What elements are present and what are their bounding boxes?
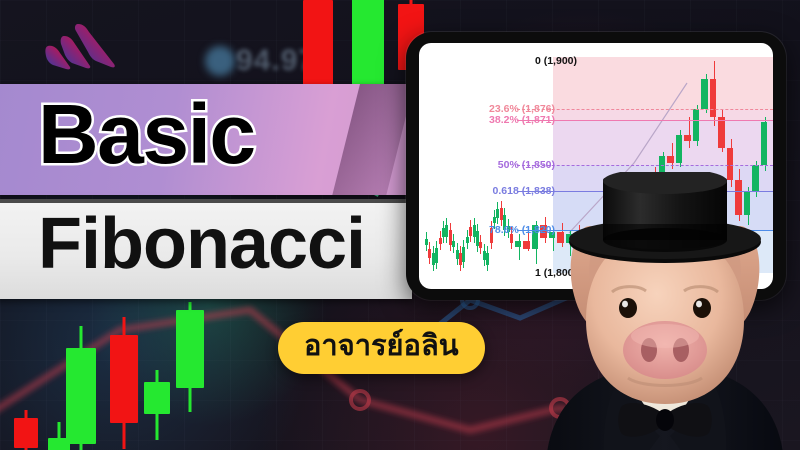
fibonacci-level-line bbox=[517, 109, 773, 110]
candle-body bbox=[452, 241, 455, 247]
instructor-badge-label: อาจารย์อลิน bbox=[304, 330, 459, 362]
candle-body bbox=[486, 253, 489, 265]
fibonacci-level-line bbox=[517, 120, 773, 121]
thumbnail-canvas: 94.97 bbox=[0, 0, 800, 450]
candle-body bbox=[479, 242, 482, 248]
candle-body bbox=[718, 117, 724, 147]
fibonacci-label: 0 (1,900) bbox=[535, 55, 577, 67]
fibonacci-label: 38.2% (1,871) bbox=[489, 114, 555, 126]
page-title-line2: Fibonacci bbox=[38, 208, 365, 280]
background-candle bbox=[48, 438, 70, 450]
background-candle bbox=[110, 335, 138, 423]
banner-accent-shape bbox=[332, 84, 414, 195]
candle-body bbox=[462, 247, 465, 262]
candle-body bbox=[435, 248, 438, 263]
candle-body bbox=[684, 135, 690, 141]
background-candle bbox=[352, 0, 384, 96]
fibonacci-level-line bbox=[517, 165, 773, 166]
candle-body bbox=[466, 237, 469, 243]
candle-body bbox=[439, 238, 442, 244]
candle-body bbox=[667, 156, 673, 162]
background-candle bbox=[66, 348, 96, 444]
background-candle bbox=[176, 310, 204, 388]
candle-body bbox=[493, 217, 496, 223]
fibonacci-label: 50% (1,850) bbox=[498, 159, 555, 171]
instructor-badge[interactable]: อาจารย์อลิน bbox=[278, 322, 485, 374]
candle-wick bbox=[689, 117, 690, 147]
candle-body bbox=[761, 122, 767, 165]
pig-in-top-hat-character bbox=[520, 172, 800, 450]
page-title-line1: Basic bbox=[38, 92, 255, 176]
candle-body bbox=[425, 239, 428, 245]
candle-body bbox=[701, 79, 707, 109]
background-candle bbox=[303, 0, 333, 96]
background-candle bbox=[144, 382, 170, 414]
candle-body bbox=[710, 79, 716, 118]
candle-body bbox=[676, 135, 682, 163]
background-candle bbox=[14, 418, 38, 448]
brand-logo-icon bbox=[34, 18, 122, 70]
candle-body bbox=[693, 109, 699, 141]
